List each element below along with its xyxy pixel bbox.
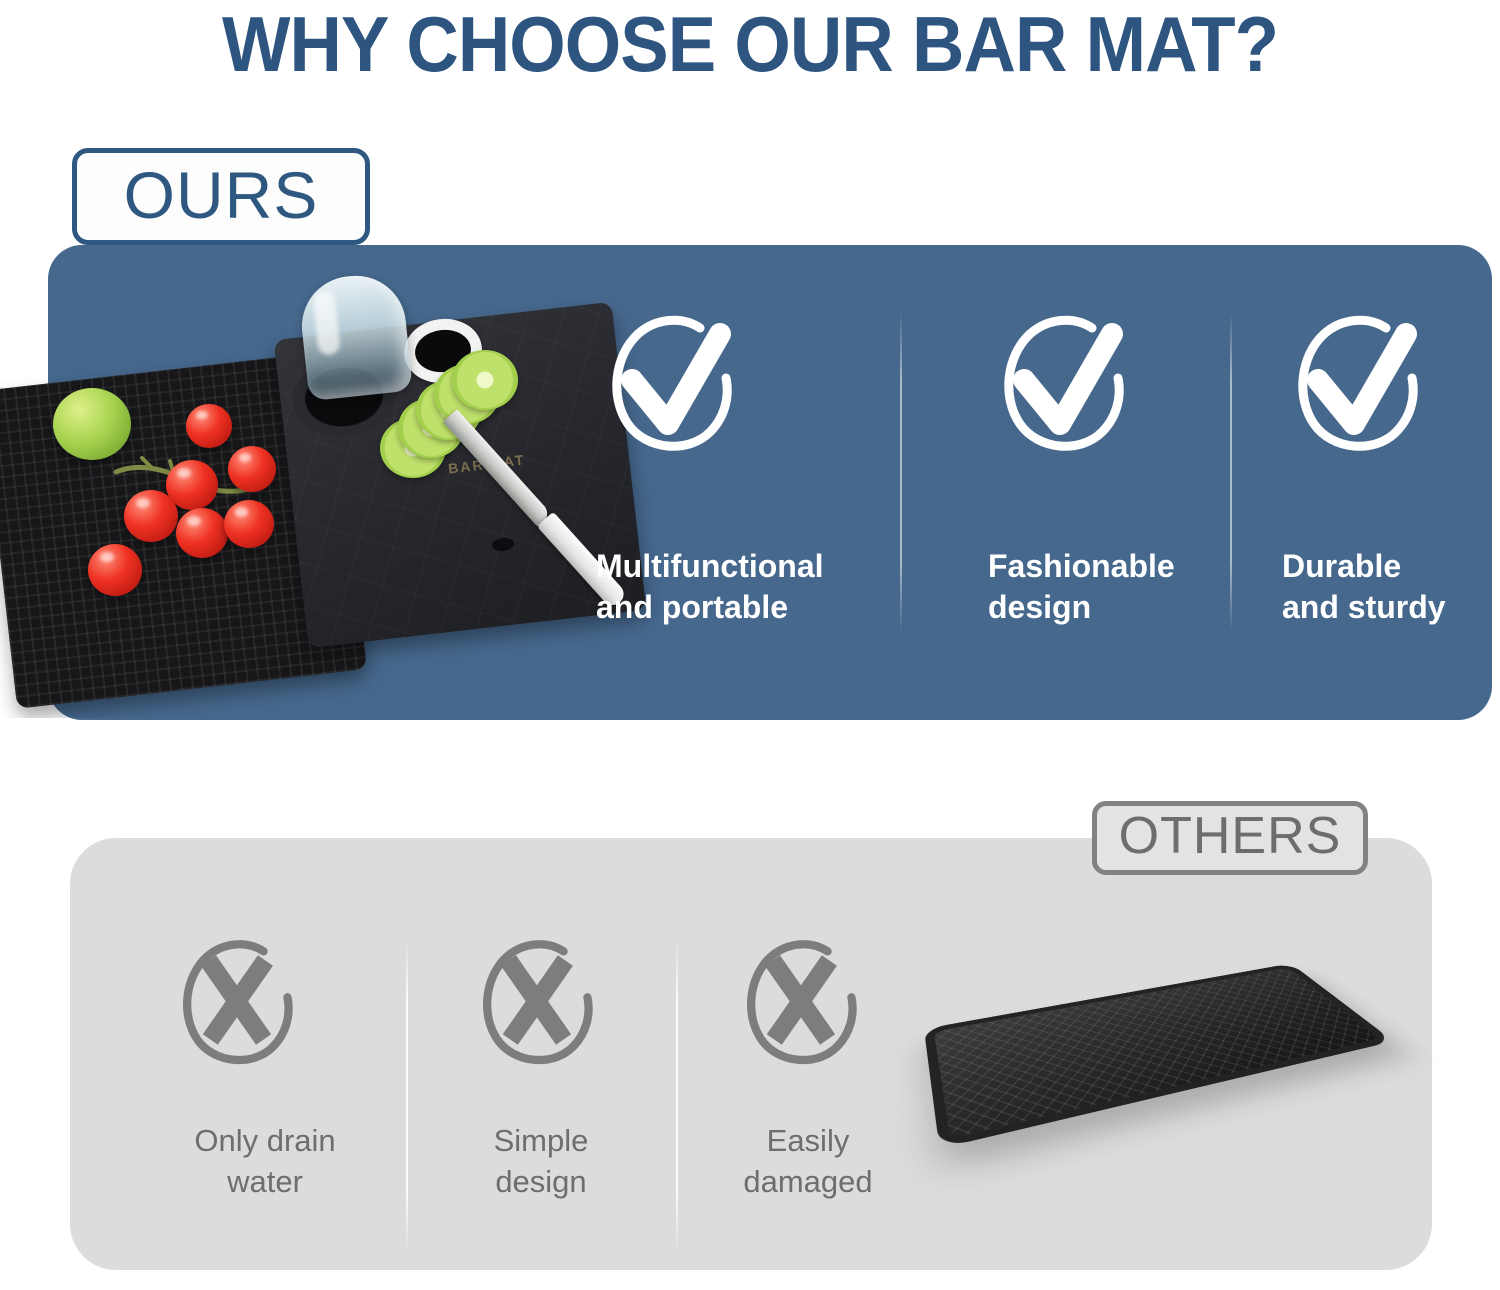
whole-lime <box>53 388 131 460</box>
cherry-tomato <box>176 508 228 558</box>
infographic-page: WHY CHOOSE OUR BAR MAT? OURS BAR MAT <box>0 0 1500 1290</box>
feature-column-multifunctional: Multifunctional and portable <box>560 296 900 662</box>
cherry-tomato <box>228 446 276 492</box>
cherry-tomato <box>186 404 232 448</box>
drawback-column-drain-water: Only drain water <box>140 920 406 1220</box>
column-divider <box>1230 312 1232 632</box>
ours-feature-list: Multifunctional and portable Fashionable… <box>560 296 1492 662</box>
column-divider <box>676 936 678 1256</box>
others-badge-label: OTHERS <box>1119 810 1342 862</box>
drawback-label: Easily damaged <box>686 1120 930 1202</box>
feature-label: Fashionable design <box>988 546 1175 628</box>
cherry-tomato <box>224 500 274 548</box>
cherry-tomato <box>124 490 178 542</box>
x-circle-icon <box>468 928 604 1073</box>
check-circle-icon <box>1282 304 1430 459</box>
feature-column-fashionable: Fashionable design <box>900 296 1230 662</box>
drawback-label: Only drain water <box>140 1120 390 1202</box>
drawback-column-easily-damaged: Easily damaged <box>676 920 940 1220</box>
competitor-rubber-mat <box>924 963 1394 1148</box>
column-divider <box>406 936 408 1256</box>
feature-label: Multifunctional and portable <box>596 546 824 628</box>
check-circle-icon <box>988 304 1136 459</box>
page-title: WHY CHOOSE OUR BAR MAT? <box>53 0 1448 92</box>
x-circle-icon <box>168 928 304 1073</box>
lime-slice <box>452 350 518 410</box>
others-product-photo <box>900 930 1400 1220</box>
others-badge: OTHERS <box>1092 801 1368 875</box>
feature-label: Durable and sturdy <box>1282 546 1446 628</box>
ours-badge: OURS <box>72 148 370 245</box>
check-circle-icon <box>596 304 744 459</box>
ours-badge-label: OURS <box>124 162 319 228</box>
feature-column-durable: Durable and sturdy <box>1230 296 1492 662</box>
others-feature-list: Only drain water Simple design <box>140 920 940 1220</box>
drawback-column-simple-design: Simple design <box>406 920 676 1220</box>
x-circle-icon <box>732 928 868 1073</box>
drinking-glass <box>297 271 413 401</box>
drawback-label: Simple design <box>426 1120 656 1202</box>
column-divider <box>900 312 902 632</box>
cherry-tomato <box>88 544 142 596</box>
